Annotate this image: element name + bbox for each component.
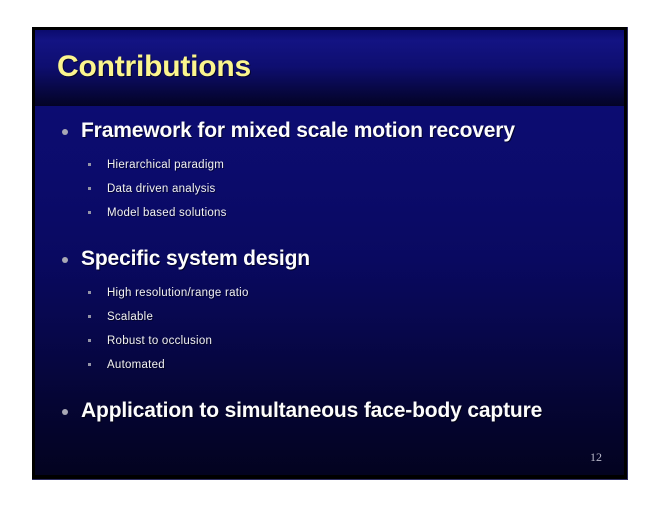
bullet-dot-icon [62,257,68,263]
sub-bullet-label: Robust to occlusion [107,330,624,352]
bullet-list: Framework for mixed scale motion recover… [35,118,624,428]
bullet-item-secondary[interactable]: Automated [35,354,624,378]
bullet-group-3: Application to simultaneous face-body ca… [35,398,624,428]
spacer [35,226,624,246]
sub-bullet-label: Data driven analysis [107,178,624,200]
sub-bullet-dot-icon [88,291,91,294]
bullet-item-primary[interactable]: Application to simultaneous face-body ca… [35,398,624,428]
bullet-label: Specific system design [81,246,624,272]
sub-bullet-dot-icon [88,187,91,190]
sub-bullet-dot-icon [88,163,91,166]
bullet-dot-icon [62,129,68,135]
bullet-label: Framework for mixed scale motion recover… [81,118,624,144]
bullet-item-secondary[interactable]: Scalable [35,306,624,330]
sub-bullet-label: Hierarchical paradigm [107,154,624,176]
presentation-page: Contributions Framework for mixed scale … [0,0,660,510]
bullet-dot-icon [62,409,68,415]
bullet-group-2: Specific system design High resolution/r… [35,246,624,378]
slide-page-number: 12 [590,450,602,465]
slide-canvas: Contributions Framework for mixed scale … [35,30,624,475]
bullet-item-primary[interactable]: Framework for mixed scale motion recover… [35,118,624,148]
sub-bullet-label: Scalable [107,306,624,328]
sub-bullet-label: Automated [107,354,624,376]
sub-bullet-dot-icon [88,315,91,318]
bullet-group-1: Framework for mixed scale motion recover… [35,118,624,226]
slide-body: Framework for mixed scale motion recover… [35,106,624,475]
sub-bullet-label: Model based solutions [107,202,624,224]
page-title: Contributions [57,50,251,84]
bullet-item-secondary[interactable]: Data driven analysis [35,178,624,202]
slide-content: Framework for mixed scale motion recover… [35,106,624,475]
sub-bullet-dot-icon [88,363,91,366]
sub-bullet-dot-icon [88,339,91,342]
slide-frame: Contributions Framework for mixed scale … [32,27,628,480]
bullet-item-secondary[interactable]: Model based solutions [35,202,624,226]
sub-bullet-dot-icon [88,211,91,214]
spacer [35,378,624,398]
bullet-item-primary[interactable]: Specific system design [35,246,624,276]
bullet-item-secondary[interactable]: High resolution/range ratio [35,282,624,306]
sub-bullet-label: High resolution/range ratio [107,282,624,304]
bullet-item-secondary[interactable]: Robust to occlusion [35,330,624,354]
slide-title-band: Contributions [35,30,624,106]
bullet-label: Application to simultaneous face-body ca… [81,398,624,424]
bullet-item-secondary[interactable]: Hierarchical paradigm [35,154,624,178]
